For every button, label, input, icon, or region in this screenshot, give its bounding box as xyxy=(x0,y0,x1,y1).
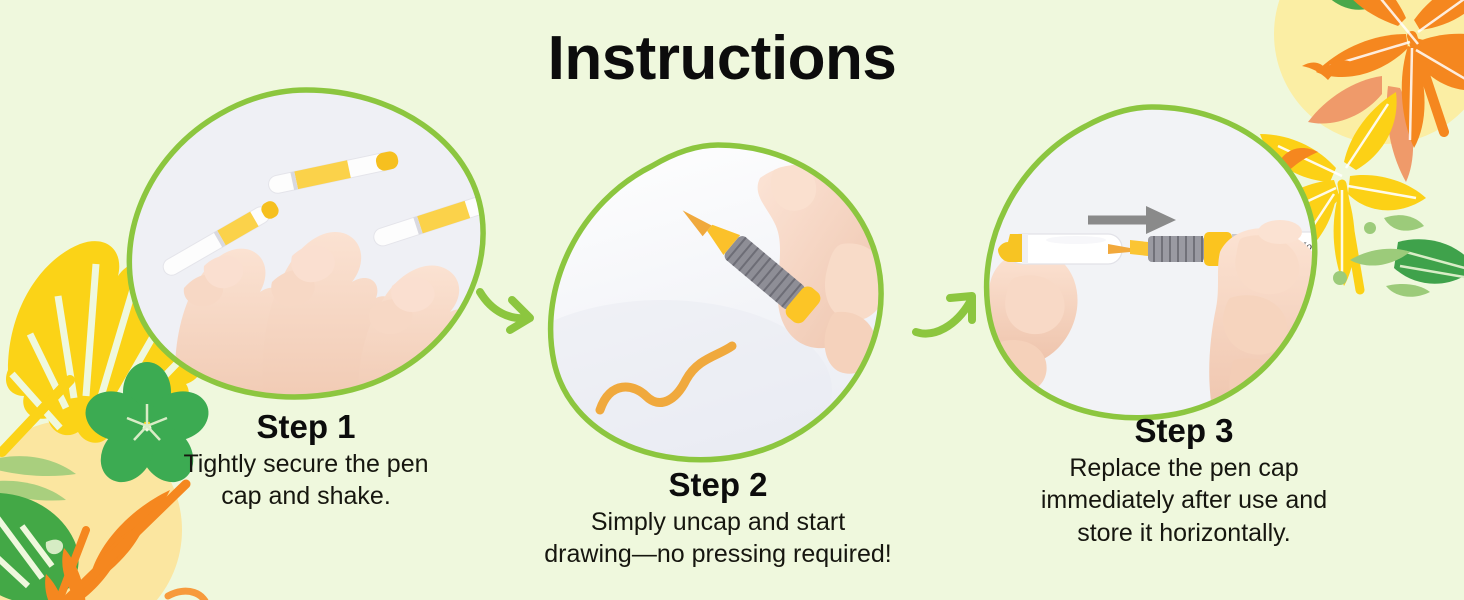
step-2-heading: Step 2 xyxy=(508,466,928,505)
step-3-photo-blob: Ohuhu Nohuka Acrylic Markers xyxy=(980,102,1324,428)
step-1-body-line-2: cap and shake. xyxy=(108,481,504,512)
spiral-shell-orange-icon xyxy=(168,591,208,600)
step-3-body-line-1: Replace the pen cap xyxy=(1004,453,1364,484)
step-2-body-line-1: Simply uncap and start xyxy=(508,507,928,538)
step-1-caption: Step 1 Tightly secure the pen cap and sh… xyxy=(108,408,504,512)
decoration-right-leaf-cluster xyxy=(1324,190,1464,330)
step-2-body-line-2: drawing—no pressing required! xyxy=(508,539,928,570)
page-title: Instructions xyxy=(0,28,1464,90)
page-title-text: Instructions xyxy=(548,28,897,90)
step-3-body-line-3: store it horizontally. xyxy=(1004,518,1364,549)
pen-cap xyxy=(998,234,1122,264)
step-3-heading: Step 3 xyxy=(1004,412,1364,451)
step-1-figure xyxy=(120,84,492,414)
step-1-photo-blob xyxy=(120,84,492,414)
step-2-figure xyxy=(542,140,892,470)
step-3-body-line-2: immediately after use and xyxy=(1004,485,1364,516)
leaf-dark-green-icon xyxy=(1394,239,1464,283)
chevron-up-right-icon xyxy=(916,302,970,334)
arrow-step2-to-step3 xyxy=(912,282,988,348)
step-2-photo-blob xyxy=(542,140,892,470)
step-3-caption: Step 3 Replace the pen cap immediately a… xyxy=(1004,412,1364,548)
step-1-body-line-1: Tightly secure the pen xyxy=(108,449,504,480)
step-3-figure: Ohuhu Nohuka Acrylic Markers xyxy=(980,102,1324,428)
monstera-leaf-green-icon xyxy=(0,493,79,600)
step-2-caption: Step 2 Simply uncap and start drawing—no… xyxy=(508,466,928,570)
leaf-dark-green-icon xyxy=(1322,0,1370,10)
instructions-banner: Instructions xyxy=(0,0,1464,600)
step-1-heading: Step 1 xyxy=(108,408,504,447)
arrow-step1-to-step2 xyxy=(476,278,538,336)
leaf-sprig-light-green-icon xyxy=(0,456,76,526)
leaf-splash-light-green-icon xyxy=(1333,215,1430,297)
